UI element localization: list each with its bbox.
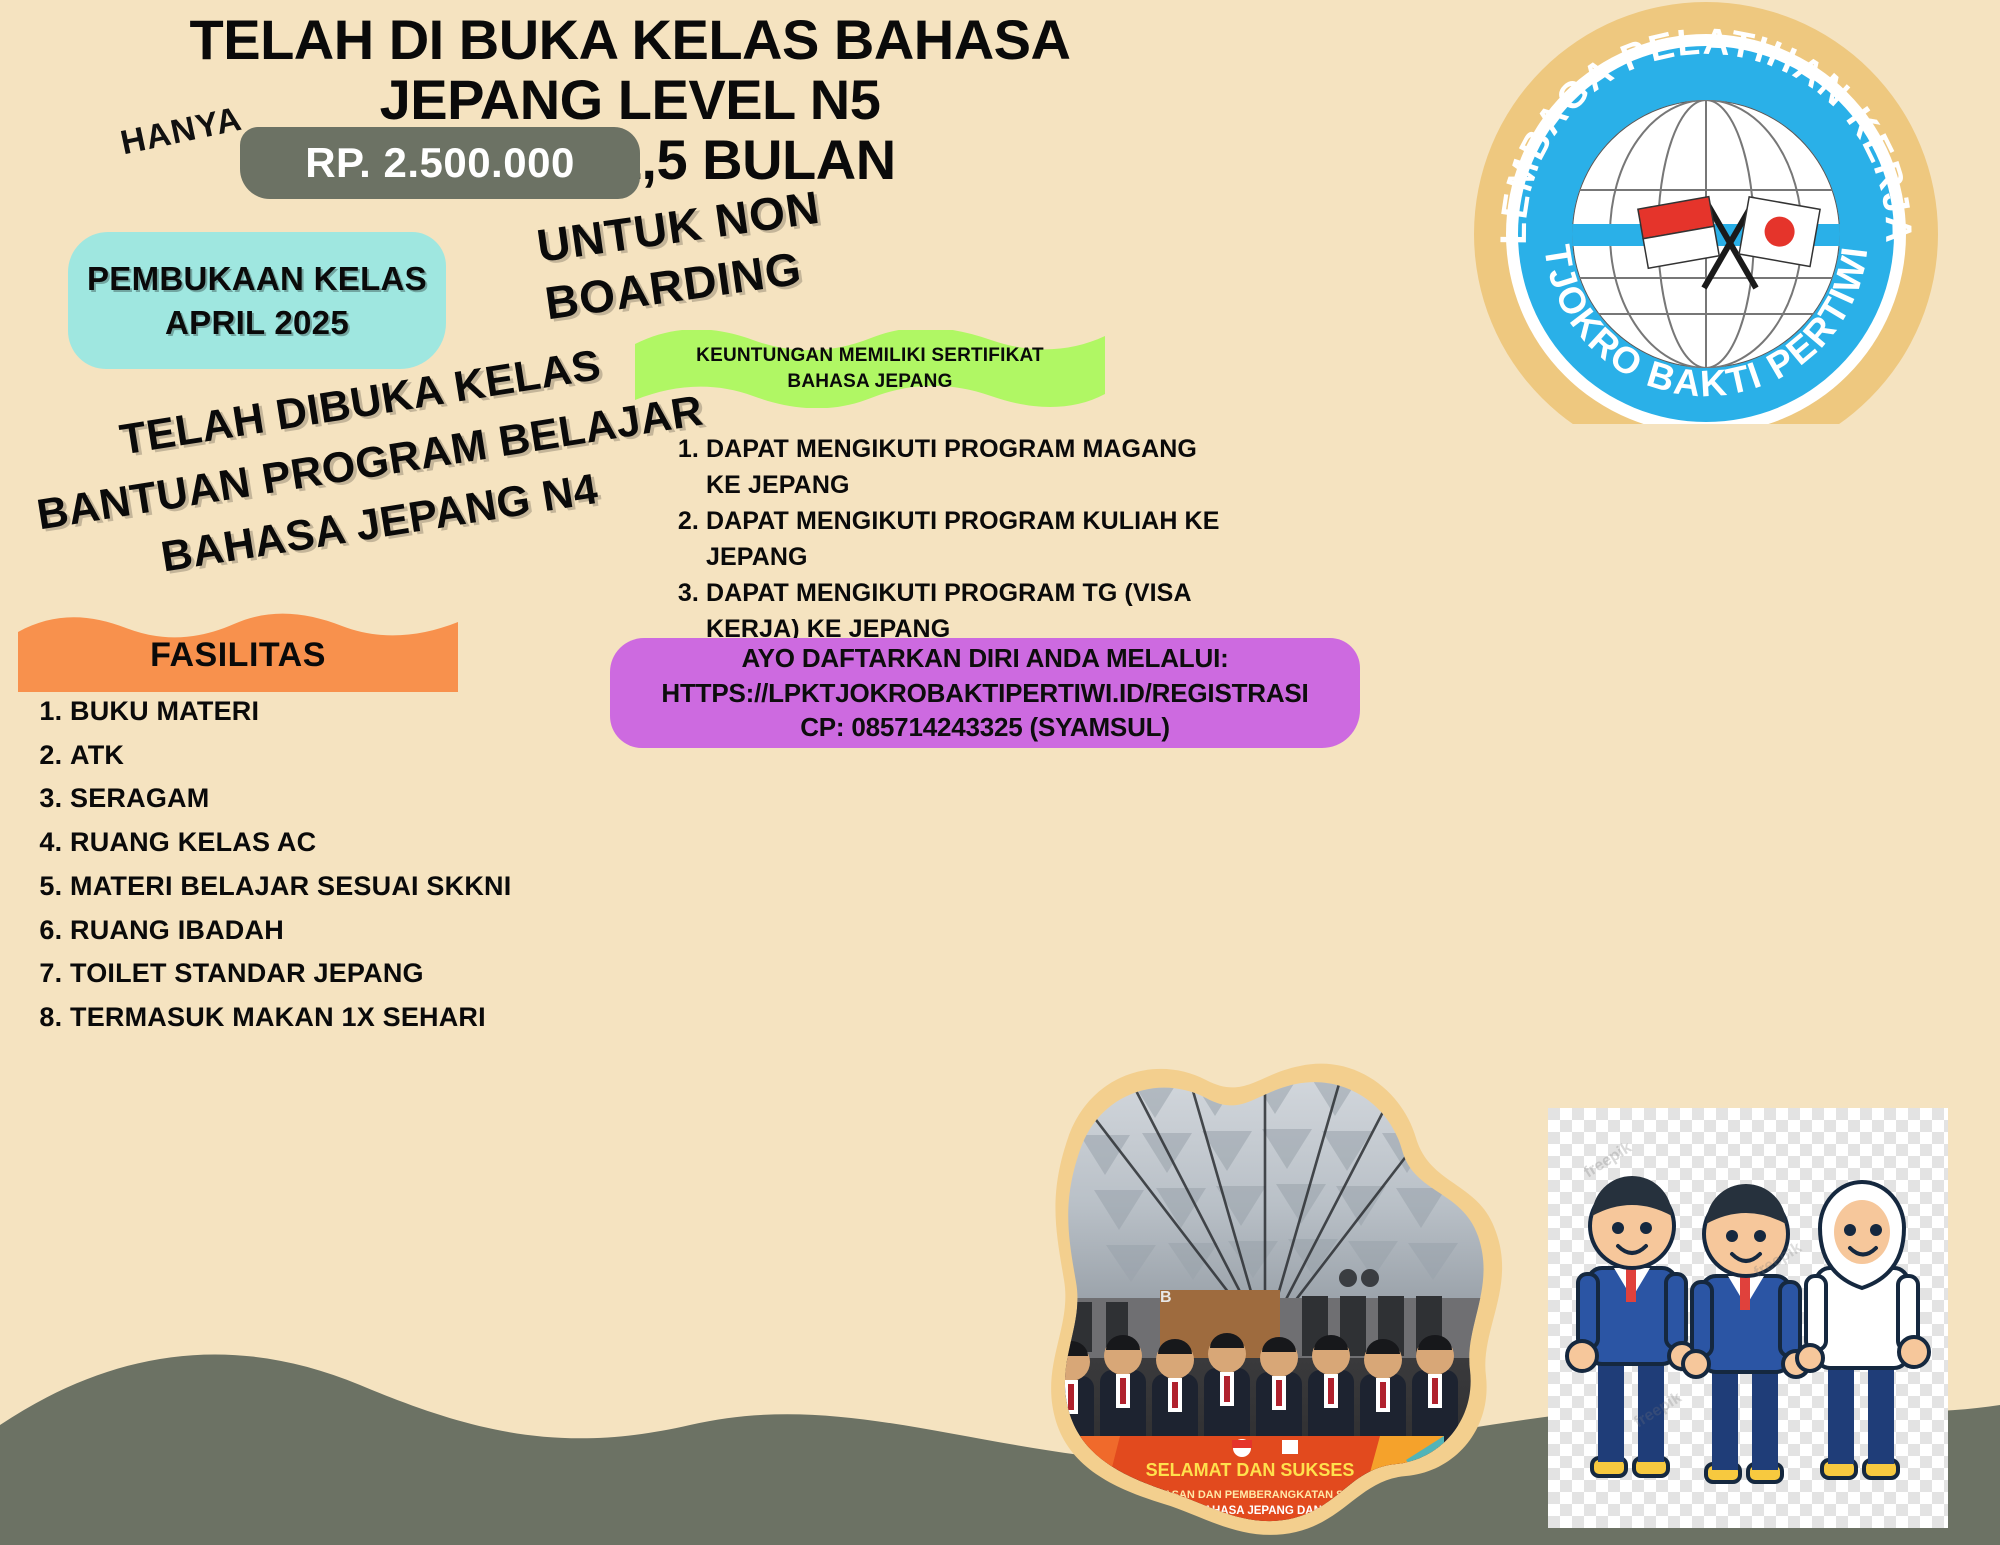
- svg-text:B: B: [1160, 1289, 1172, 1306]
- banner-line-1: SELAMAT DAN SUKSES: [1146, 1460, 1355, 1480]
- sendoff-photo: B: [1010, 1040, 1520, 1545]
- contact-phone[interactable]: CP: 085714243325 (SYAMSUL): [800, 710, 1170, 745]
- list-item: RUANG KELAS AC: [70, 821, 582, 865]
- list-item: ATK: [70, 734, 582, 778]
- facilities-ordered-list: BUKU MATERI ATK SERAGAM RUANG KELAS AC M…: [22, 690, 582, 1040]
- photo-svg: B: [1010, 1040, 1520, 1545]
- registration-url[interactable]: HTTPS://LPKTJOKROBAKTIPERTIWI.ID/REGISTR…: [661, 676, 1308, 711]
- benefits-banner: KEUNTUNGAN MEMILIKI SERTIFIKAT BAHASA JE…: [635, 330, 1105, 408]
- lpk-logo: LEMBAGA PELATIHAN KERJA TJOKRO BAKTI PER…: [1456, 0, 1956, 424]
- price-badge: RP. 2.500.000: [240, 127, 640, 199]
- list-item: DAPAT MENGIKUTI PROGRAM KULIAH KE JEPANG: [706, 504, 1232, 575]
- list-item: BUKU MATERI: [70, 690, 582, 734]
- facilities-list: BUKU MATERI ATK SERAGAM RUANG KELAS AC M…: [22, 690, 582, 1040]
- facilities-banner: FASILITAS: [18, 612, 458, 692]
- student-mascots-illustration: freepik freepik freepik: [1548, 1108, 1948, 1528]
- list-item: TOILET STANDAR JEPANG: [70, 952, 582, 996]
- thumbs-up-icon: [1899, 1337, 1929, 1367]
- price-amount: RP. 2.500.000: [305, 139, 575, 187]
- benefits-banner-line-1: KEUNTUNGAN MEMILIKI SERTIFIKAT: [696, 345, 1044, 367]
- headline-line-1: TELAH DI BUKA KELAS BAHASA JEPANG LEVEL …: [90, 10, 1170, 130]
- benefits-banner-line-2: BAHASA JEPANG: [787, 371, 952, 393]
- indonesia-flag-icon: [1638, 197, 1719, 269]
- poster-canvas: TELAH DI BUKA KELAS BAHASA JEPANG LEVEL …: [0, 0, 2000, 1545]
- benefits-list: DAPAT MENGIKUTI PROGRAM MAGANG KE JEPANG…: [672, 432, 1232, 648]
- list-item: SERAGAM: [70, 777, 582, 821]
- facilities-banner-title: FASILITAS: [18, 612, 458, 692]
- benefits-banner-text: KEUNTUNGAN MEMILIKI SERTIFIKAT BAHASA JE…: [635, 330, 1105, 408]
- logo-svg: LEMBAGA PELATIHAN KERJA TJOKRO BAKTI PER…: [1456, 0, 1956, 424]
- benefits-ordered-list: DAPAT MENGIKUTI PROGRAM MAGANG KE JEPANG…: [672, 432, 1232, 647]
- cta-line-1: AYO DAFTARKAN DIRI ANDA MELALUI:: [741, 641, 1228, 676]
- registration-cta-box[interactable]: AYO DAFTARKAN DIRI ANDA MELALUI: HTTPS:/…: [610, 638, 1360, 748]
- list-item: MATERI BELAJAR SESUAI SKKNI: [70, 865, 582, 909]
- class-opening-line-2: APRIL 2025: [165, 304, 349, 342]
- thumbs-up-icon: [1567, 1341, 1597, 1371]
- list-item: DAPAT MENGIKUTI PROGRAM TG (VISA KERJA) …: [706, 576, 1232, 647]
- class-opening-box: PEMBUKAAN KELAS APRIL 2025: [68, 232, 446, 369]
- non-boarding-note: UNTUK NON BOARDING: [533, 179, 831, 333]
- list-item: DAPAT MENGIKUTI PROGRAM MAGANG KE JEPANG: [706, 432, 1232, 503]
- japan-flag-icon: [1739, 197, 1820, 267]
- class-opening-line-1: PEMBUKAAN KELAS: [87, 260, 427, 298]
- mascots-svg: freepik freepik freepik: [1548, 1108, 1948, 1528]
- list-item: TERMASUK MAKAN 1X SEHARI: [70, 996, 582, 1040]
- list-item: RUANG IBADAH: [70, 909, 582, 953]
